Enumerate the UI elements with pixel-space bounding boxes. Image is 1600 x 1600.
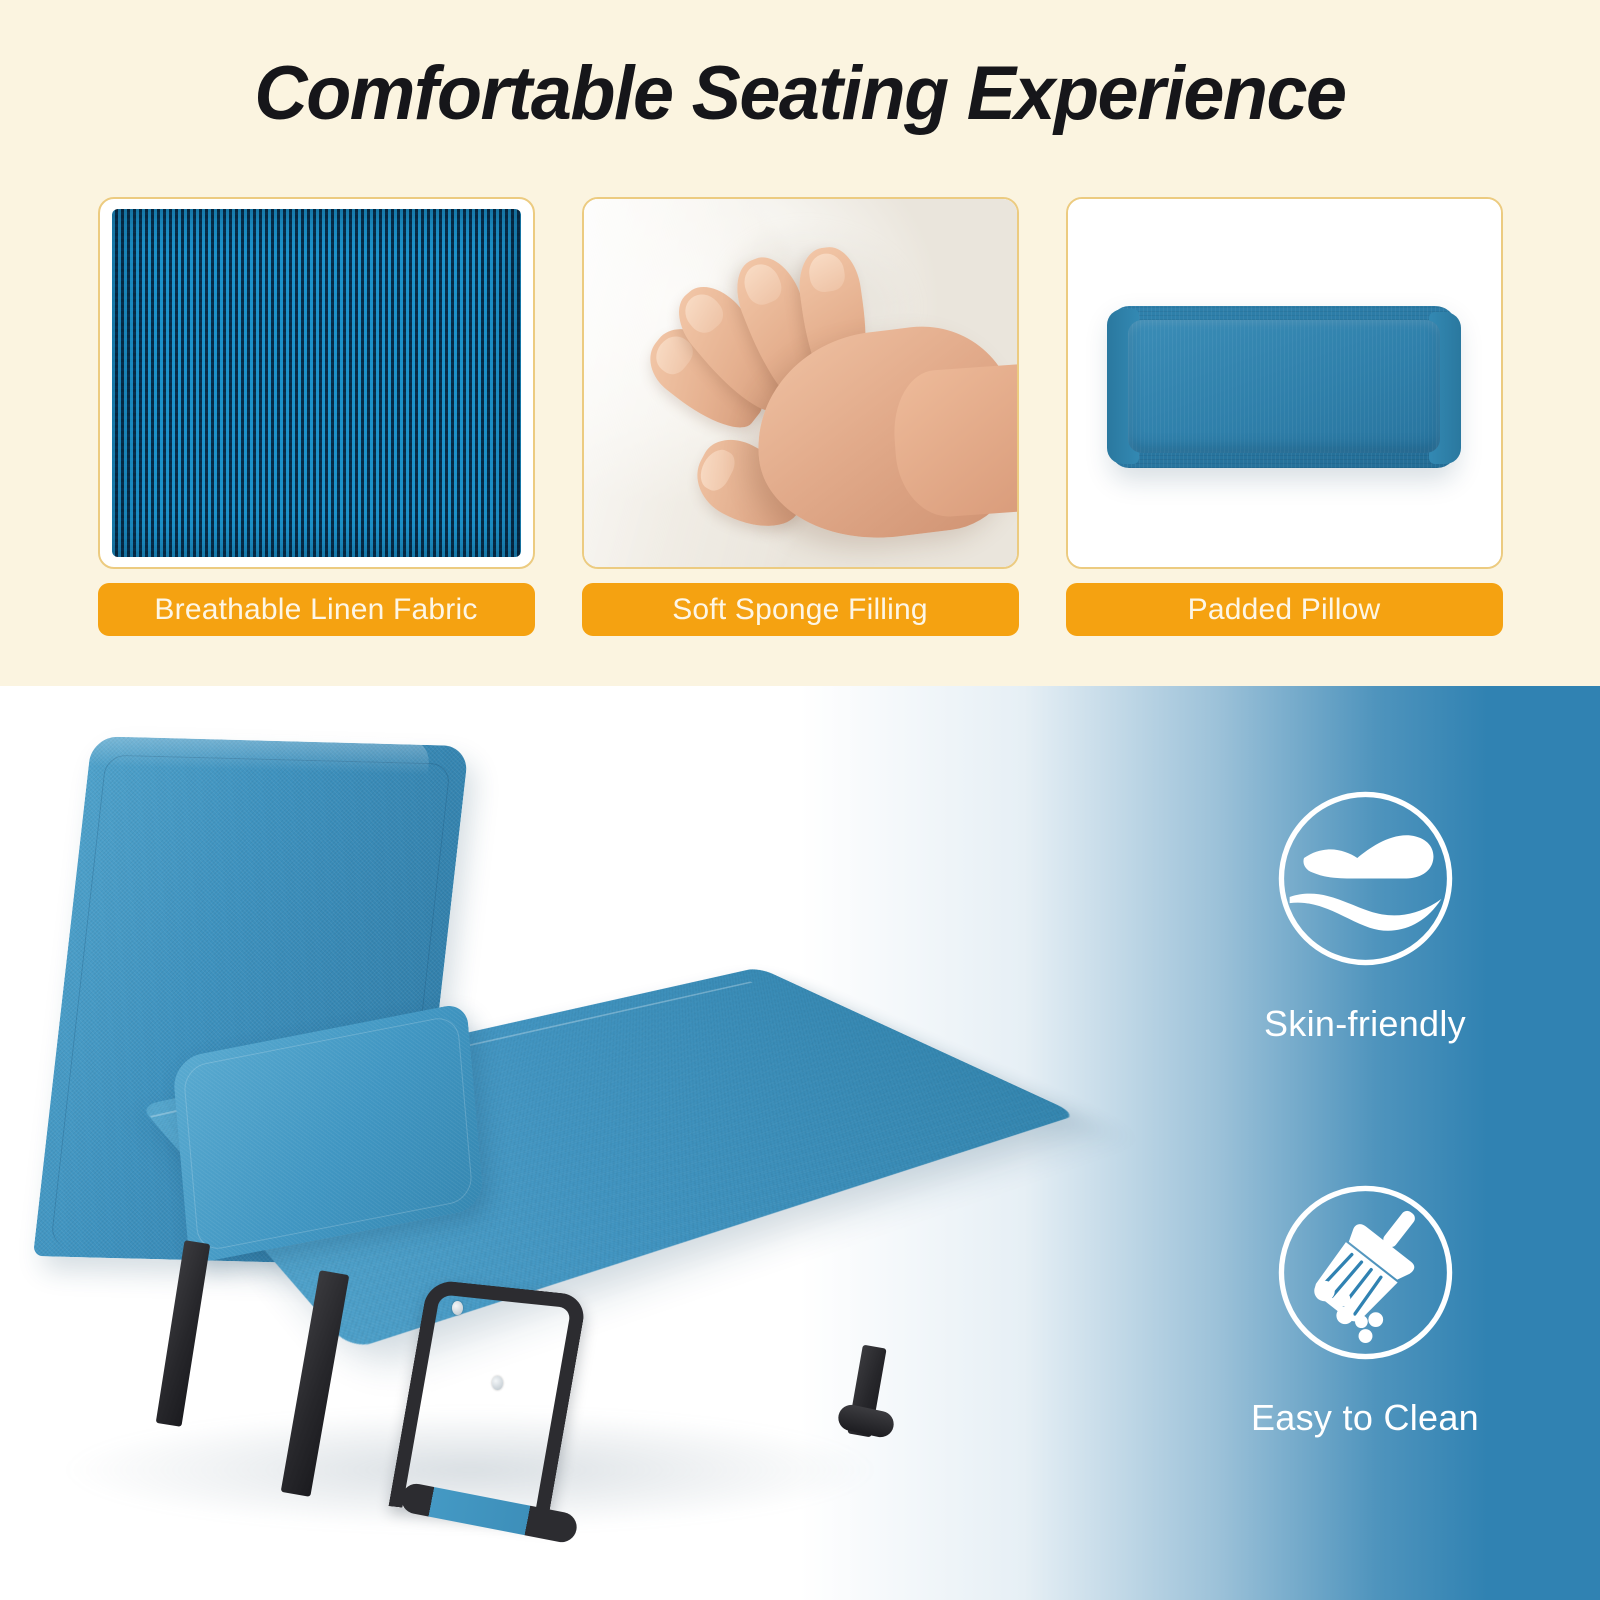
feature-card-label: Padded Pillow — [1066, 583, 1503, 636]
feature-card-sponge-filling[interactable]: Soft Sponge Filling — [582, 197, 1019, 647]
hand-illustration — [584, 199, 1017, 567]
fingernail — [678, 287, 730, 339]
benefit-label: Skin-friendly — [1264, 1003, 1466, 1045]
hand-pressing-sponge — [584, 199, 1017, 567]
feature-card-label: Soft Sponge Filling — [582, 583, 1019, 636]
hand-over-wave-icon — [1263, 776, 1468, 981]
product-showcase: Skin-friendly — [0, 686, 1600, 1600]
feature-card-linen-fabric[interactable]: Breathable Linen Fabric — [98, 197, 535, 647]
chaise-leg-middle — [281, 1270, 350, 1497]
benefit-list: Skin-friendly — [1200, 776, 1530, 1439]
card-image-frame — [582, 197, 1019, 569]
convertible-chaise-lounge — [0, 686, 1050, 1600]
chaise-foot-cap-rear — [836, 1402, 896, 1439]
pillow-inner-panel — [1128, 320, 1440, 453]
benefit-easy-to-clean: Easy to Clean — [1251, 1170, 1479, 1439]
linen-fabric-swatch — [112, 209, 521, 557]
page-title: Comfortable Seating Experience — [24, 50, 1576, 137]
chaise-leg-front-left — [156, 1240, 211, 1427]
brush-sweeping-icon — [1263, 1170, 1468, 1375]
pillow-body — [1111, 306, 1457, 468]
fingernail — [739, 259, 787, 309]
card-image-frame — [1066, 197, 1503, 569]
feature-card-padded-pillow[interactable]: Padded Pillow — [1066, 197, 1503, 647]
card-image-frame — [98, 197, 535, 569]
feature-card-list: Breathable Linen Fabric — [0, 197, 1600, 647]
fingernail — [807, 251, 847, 294]
benefit-skin-friendly: Skin-friendly — [1263, 776, 1468, 1045]
features-banner: Comfortable Seating Experience Breathabl… — [0, 0, 1600, 686]
fingernail — [695, 444, 740, 495]
rivet — [492, 1376, 503, 1390]
benefit-label: Easy to Clean — [1251, 1397, 1479, 1439]
blue-lumbar-pillow — [1068, 199, 1501, 567]
rivet — [452, 1301, 463, 1315]
feature-card-label: Breathable Linen Fabric — [98, 583, 535, 636]
